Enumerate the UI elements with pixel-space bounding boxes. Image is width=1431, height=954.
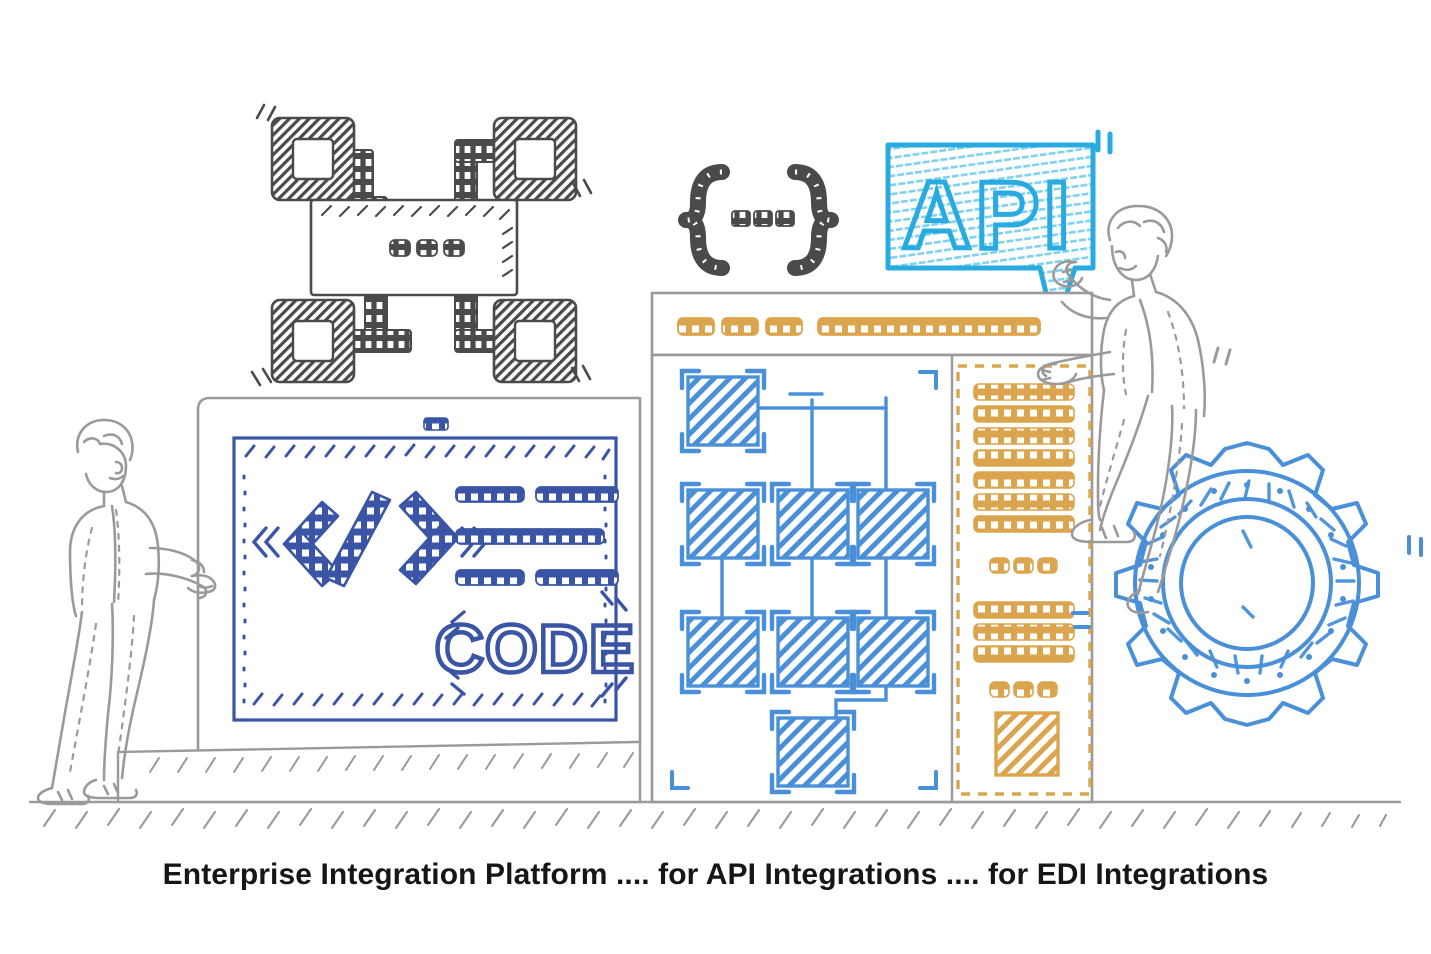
flow-box [772, 712, 854, 792]
network-node [494, 300, 576, 382]
ground-line [30, 802, 1400, 828]
server-header-indicators [678, 318, 1040, 335]
flow-box [682, 612, 764, 692]
curly-braces-icon [686, 172, 831, 268]
enterprise-integration-illustration: API [0, 0, 1431, 954]
code-screen: CODE [234, 438, 635, 720]
monitor-camera-icon [424, 418, 448, 430]
page-caption: Enterprise Integration Platform .... for… [0, 858, 1431, 892]
network-hub-box [311, 200, 517, 295]
person-left [38, 420, 215, 804]
edi-dots-two [990, 682, 1057, 697]
network-node [494, 118, 576, 200]
monitor: CODE [118, 398, 640, 802]
flow-box [852, 484, 934, 564]
gear-icon [1073, 443, 1421, 725]
flow-box [772, 484, 854, 564]
flow-box [682, 484, 764, 564]
edi-hatched-square [996, 713, 1058, 775]
flow-box [682, 371, 764, 451]
code-word-text: CODE [435, 611, 635, 687]
hub-status-dots [390, 240, 464, 256]
network-diagram-icon [252, 105, 591, 385]
api-bubble-text: API [902, 162, 1074, 269]
edi-dots-one [990, 558, 1057, 573]
server-rack [652, 293, 1092, 802]
braces-ellipsis-dots [732, 211, 794, 226]
network-node [272, 300, 354, 382]
flow-box [772, 612, 854, 692]
edi-bars-bottom [974, 602, 1074, 662]
illustration-canvas: API [0, 0, 1431, 954]
network-node [272, 118, 354, 200]
edi-bars-top [974, 384, 1074, 532]
flow-box [852, 612, 934, 692]
